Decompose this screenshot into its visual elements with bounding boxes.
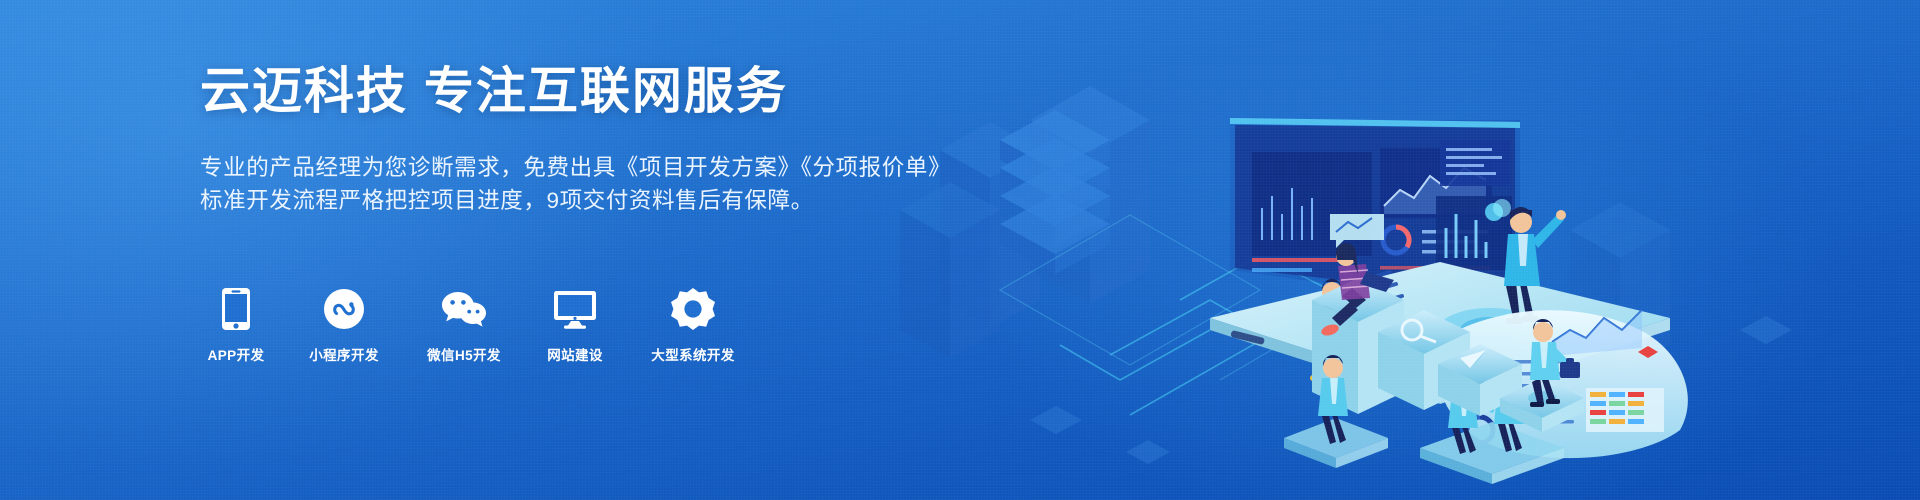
server-stack xyxy=(1000,110,1110,274)
service-label: 微信H5开发 xyxy=(427,344,501,364)
service-label: 小程序开发 xyxy=(309,344,379,364)
mini-program-icon xyxy=(323,286,365,332)
banner-subtitle: 专业的产品经理为您诊断需求，免费出具《项目开发方案》《分项报价单》 标准开发流程… xyxy=(200,151,960,217)
subtitle-line-2: 标准开发流程严格把控项目进度，9项交付资料售后有保障。 xyxy=(200,184,960,217)
wechat-icon xyxy=(440,286,488,332)
service-label: 大型系统开发 xyxy=(651,344,734,364)
page-title: 云迈科技 专注互联网服务 xyxy=(200,62,960,121)
service-item-large-system[interactable]: 大型系统开发 xyxy=(638,286,748,364)
service-label: 网站建设 xyxy=(547,344,603,364)
mobile-phone-icon xyxy=(221,286,251,332)
banner-copy: 云迈科技 专注互联网服务 专业的产品经理为您诊断需求，免费出具《项目开发方案》《… xyxy=(200,62,960,217)
service-item-website[interactable]: 网站建设 xyxy=(536,286,614,364)
monitor-icon xyxy=(552,286,598,332)
color-table xyxy=(1586,388,1664,432)
hero-banner: 云迈科技 专注互联网服务 专业的产品经理为您诊断需求，免费出具《项目开发方案》《… xyxy=(0,0,1920,500)
illustration-isometric-data-dashboard xyxy=(880,0,1920,500)
service-item-app[interactable]: APP开发 xyxy=(200,286,272,364)
touch-glow xyxy=(1493,199,1511,217)
subtitle-line-1: 专业的产品经理为您诊断需求，免费出具《项目开发方案》《分项报价单》 xyxy=(200,151,960,184)
gear-icon xyxy=(671,286,715,332)
service-item-mini-program[interactable]: 小程序开发 xyxy=(296,286,392,364)
service-item-wechat-h5[interactable]: 微信H5开发 xyxy=(416,286,512,364)
service-list: APP开发 小程序开发 xyxy=(200,286,748,364)
service-label: APP开发 xyxy=(208,344,265,364)
